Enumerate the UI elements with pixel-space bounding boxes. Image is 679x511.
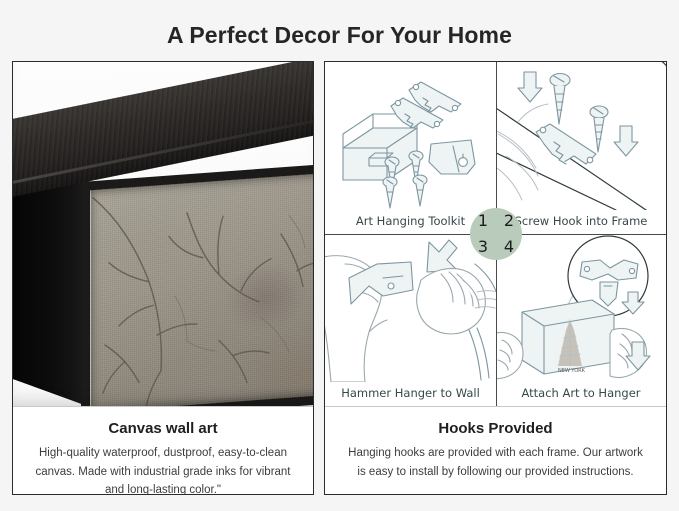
canvas-caption: Canvas wall art High-quality waterproof,…: [13, 406, 313, 494]
badge-number-3: 3: [478, 239, 488, 255]
hooks-caption-title: Hooks Provided: [343, 420, 648, 437]
canvas-wall-art-panel: Canvas wall art High-quality waterproof,…: [12, 61, 314, 495]
step-2-screw-hook-into-frame: Screw Hook into Frame: [496, 62, 666, 234]
badge-number-2: 2: [504, 213, 514, 229]
hooks-caption: Hooks Provided Hanging hooks are provide…: [325, 406, 666, 494]
installation-steps-grid: Art Hanging Toolkit: [325, 62, 666, 406]
step-4-attach-art-to-hanger: NEW YORK: [496, 234, 666, 406]
step-3-label: Hammer Hanger to Wall: [325, 386, 496, 400]
step-4-label: Attach Art to Hanger: [496, 386, 666, 400]
hooks-caption-body: Hanging hooks are provided with each fra…: [343, 444, 648, 481]
product-photo: [13, 62, 313, 406]
step-2-label: Screw Hook into Frame: [496, 214, 666, 228]
screw-hook-into-frame-icon: [496, 62, 666, 210]
canvas-caption-body: High-quality waterproof, dustproof, easy…: [27, 444, 299, 495]
frame-inner-bevel: [81, 163, 313, 406]
step-1-art-hanging-toolkit: Art Hanging Toolkit: [325, 62, 496, 234]
caption-divider: [13, 406, 313, 407]
caption-divider: [325, 406, 666, 407]
svg-text:NEW YORK: NEW YORK: [558, 368, 586, 374]
attach-art-to-hanger-icon: NEW YORK: [496, 234, 666, 382]
hooks-provided-panel: Art Hanging Toolkit: [324, 61, 667, 495]
badge-number-1: 1: [478, 213, 488, 229]
product-infographic: A Perfect Decor For Your Home: [0, 0, 679, 511]
page-title: A Perfect Decor For Your Home: [0, 22, 679, 49]
step-3-hammer-hanger-to-wall: Hammer Hanger to Wall: [325, 234, 496, 406]
canvas-caption-title: Canvas wall art: [27, 420, 299, 437]
toolkit-box-hangers-screws-icon: [325, 62, 496, 210]
hammer-hanger-to-wall-icon: [325, 234, 496, 382]
badge-number-4: 4: [504, 239, 514, 255]
step-number-badge: 1 2 3 4: [470, 208, 522, 260]
